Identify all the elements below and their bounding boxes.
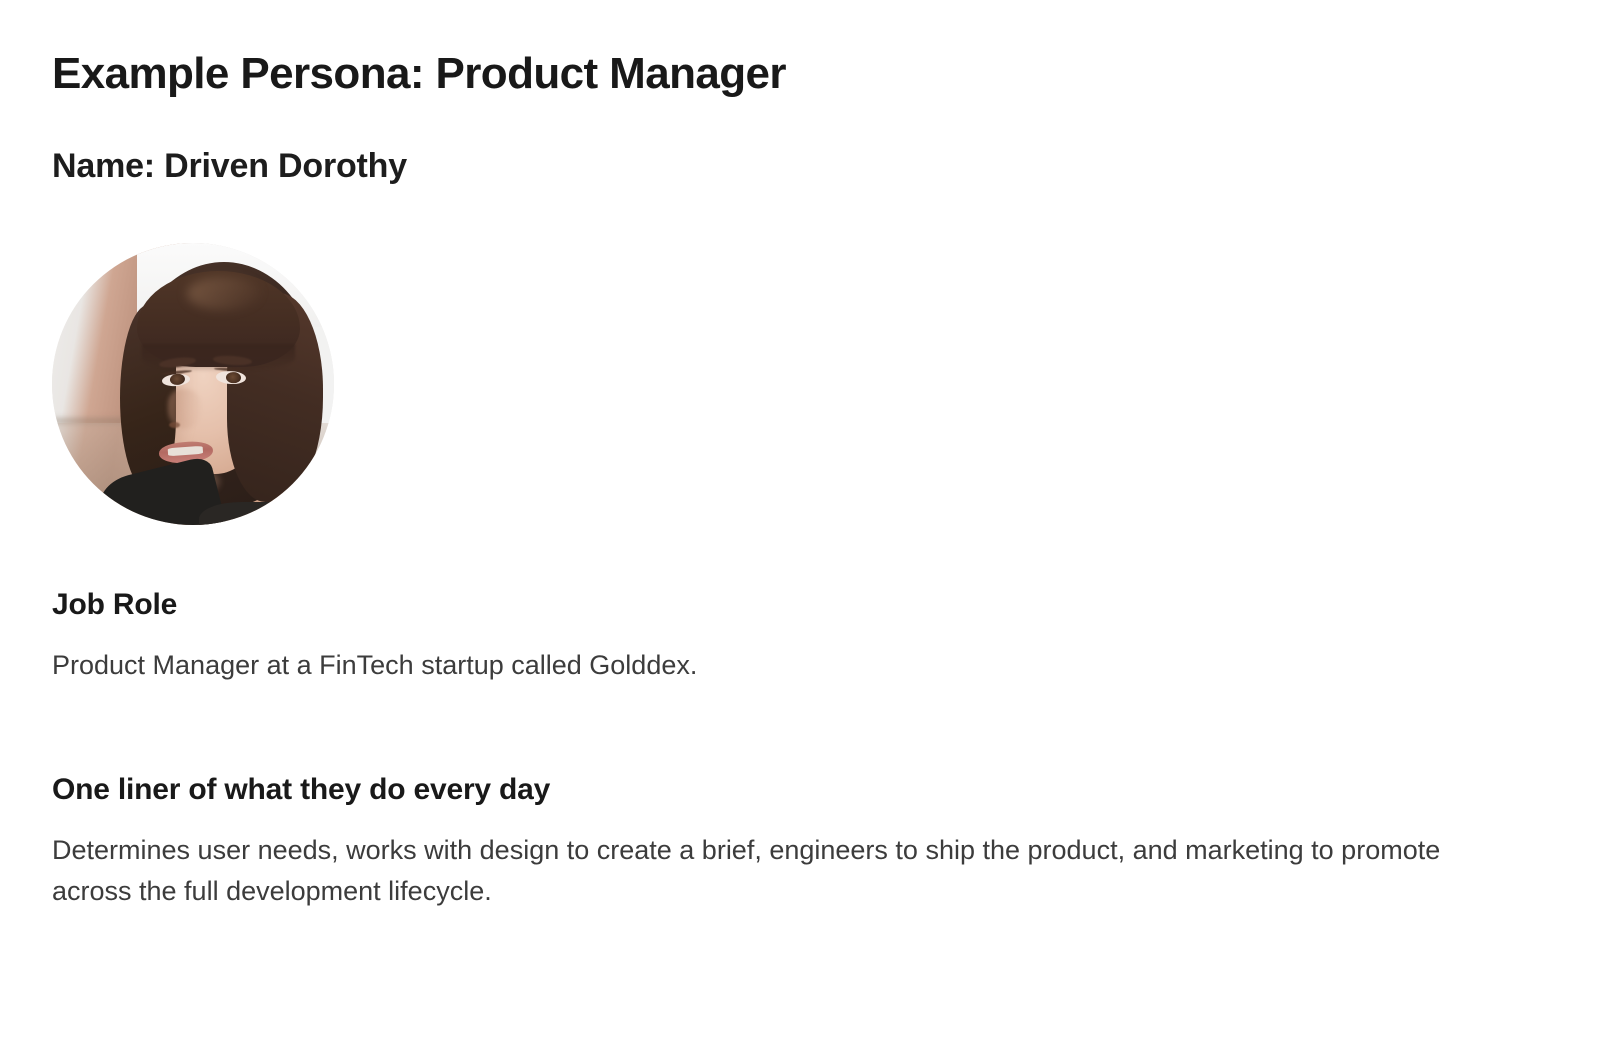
section-job-role: Job Role Product Manager at a FinTech st… — [52, 587, 1500, 686]
page-title: Example Persona: Product Manager — [52, 0, 1500, 100]
photo-iris-right — [225, 371, 241, 384]
section-body-one-liner: Determines user needs, works with design… — [52, 830, 1497, 912]
section-heading-one-liner: One liner of what they do every day — [52, 772, 1500, 808]
document-content: Example Persona: Product Manager Name: D… — [52, 0, 1500, 912]
section-body-job-role: Product Manager at a FinTech startup cal… — [52, 645, 1497, 686]
section-heading-job-role: Job Role — [52, 587, 1500, 623]
avatar-container — [52, 243, 334, 525]
avatar — [52, 243, 334, 525]
photo-hair-highlight — [187, 277, 260, 311]
photo-clothing-right — [199, 502, 334, 525]
persona-name-line: Name: Driven Dorothy — [52, 100, 1500, 187]
photo-teeth — [167, 446, 203, 456]
document-page: Example Persona: Product Manager Name: D… — [0, 0, 1600, 1037]
section-one-liner: One liner of what they do every day Dete… — [52, 772, 1500, 912]
photo-iris-left — [170, 374, 186, 386]
